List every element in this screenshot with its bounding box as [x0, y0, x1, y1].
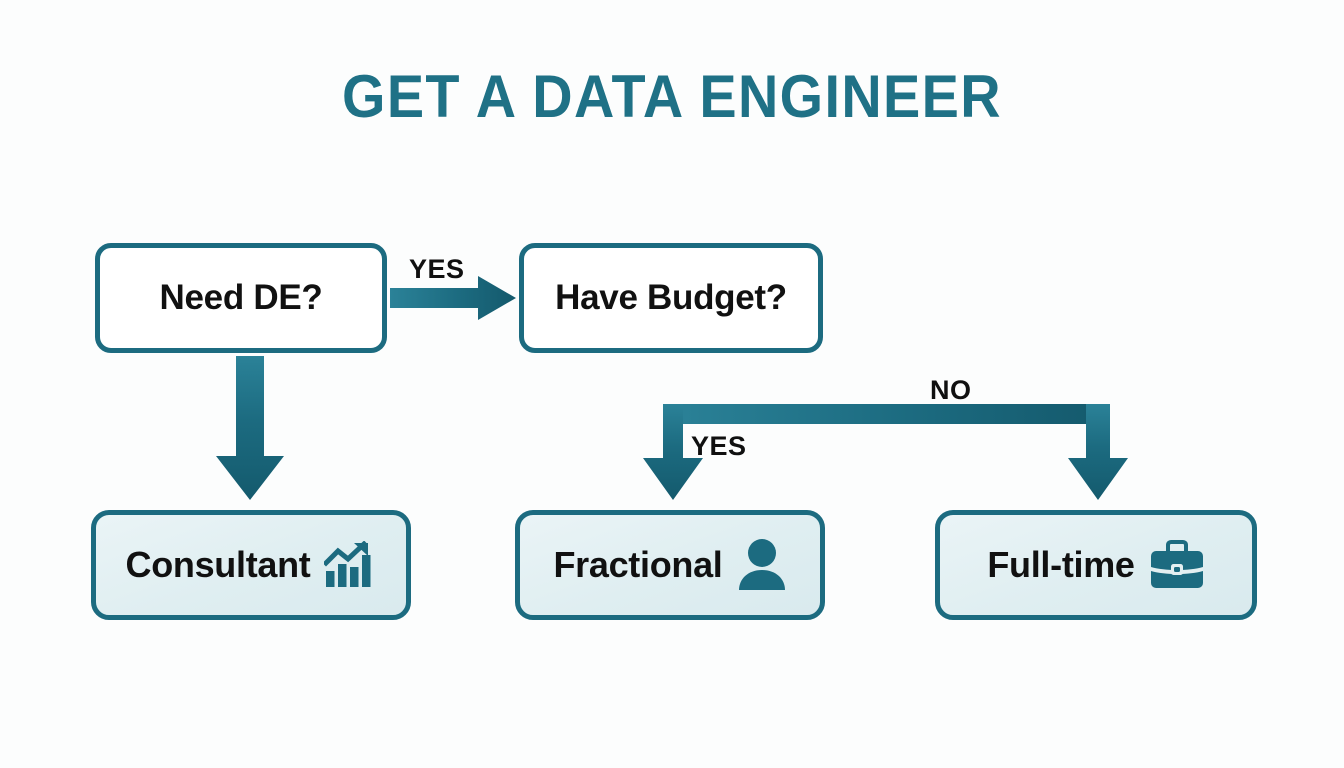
node-fractional-label: Fractional: [553, 544, 722, 586]
node-fulltime[interactable]: Full-time: [935, 510, 1257, 620]
bar-chart-growth-icon: [324, 541, 376, 589]
flowchart-canvas: GET A DATA ENGINEER: [0, 0, 1344, 768]
node-fulltime-label: Full-time: [987, 544, 1134, 586]
edge-label-no-have-budget: NO: [930, 375, 972, 406]
node-need-de[interactable]: Need DE?: [95, 243, 387, 353]
person-icon: [737, 538, 787, 592]
node-consultant-label: Consultant: [126, 544, 311, 586]
arrow-need-de-to-consultant: [216, 356, 284, 500]
node-fractional[interactable]: Fractional: [515, 510, 825, 620]
page-title: GET A DATA ENGINEER: [47, 62, 1297, 131]
edge-label-yes-have-budget: YES: [691, 431, 747, 462]
node-have-budget[interactable]: Have Budget?: [519, 243, 823, 353]
node-consultant[interactable]: Consultant: [91, 510, 411, 620]
briefcase-icon: [1149, 540, 1205, 590]
node-need-de-label: Need DE?: [160, 278, 323, 318]
edge-label-yes-need-de: YES: [409, 254, 465, 285]
node-have-budget-label: Have Budget?: [555, 278, 787, 318]
